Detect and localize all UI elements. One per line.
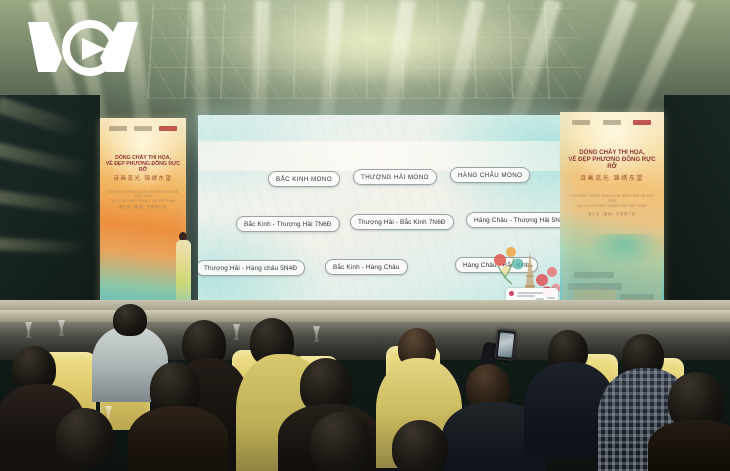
tour-pill-bac-kinh-hang-chau[interactable]: Bắc Kinh - Hàng Châu <box>325 259 408 275</box>
banner-right-title: DÒNG CHẢY THI HỌA, VẺ ĐẸP PHƯƠNG ĐÔNG RỰ… <box>563 150 661 170</box>
tour-package-list: BẮC KINH MONO THƯỢNG HẢI MONO HÀNG CHÂU … <box>198 115 560 310</box>
tour-pill-thuong-hai-bac-kinh-7n6d[interactable]: Thượng Hải - Bắc Kinh 7N6Đ <box>350 214 454 230</box>
banner-left-subtitle-line2: DU LỊCH CHIẾT GIANG TẠI VIỆT NAM <box>107 199 179 203</box>
tour-pill-thuong-hai-mono[interactable]: THƯỢNG HẢI MONO <box>353 169 437 185</box>
wine-glass <box>232 324 241 340</box>
banner-right-sponsor-logos <box>566 119 658 126</box>
banner-right-chinese-subtitle: 浙江省（越南）文旅推介会 <box>570 211 653 216</box>
banner-right-subtitle-line1: CHƯƠNG TRÌNH GIAO LƯU VĂN HÓA VÀ XÚC TIẾ… <box>568 194 655 204</box>
wine-glass <box>57 320 66 336</box>
event-photo: DÒNG CHẢY THI HỌA, VẺ ĐẸP PHƯƠNG ĐÔNG RỰ… <box>0 0 730 471</box>
banner-left-chinese-subtitle: 浙江省（越南）文旅推介会 <box>109 204 178 209</box>
tour-pill-hang-chau-mono[interactable]: HÀNG CHÂU MONO <box>450 167 530 183</box>
banner-right-subtitle-line2: DU LỊCH CHIẾT GIANG TẠI VIỆT NAM <box>568 204 655 209</box>
attendee-torso <box>128 406 228 471</box>
banner-left-title-line2: VẺ ĐẸP PHƯƠNG ĐÔNG RỰC RỠ <box>103 162 184 174</box>
banner-right-subtitle: CHƯƠNG TRÌNH GIAO LƯU VĂN HÓA VÀ XÚC TIẾ… <box>568 194 655 209</box>
attendee-head <box>310 412 372 471</box>
banner-left-subtitle-line1: CHƯƠNG TRÌNH GIAO LƯU VĂN HÓA VÀ XÚC TIẾ… <box>107 190 179 199</box>
lighting-truss <box>147 3 582 98</box>
tour-pill-hang-chau-thuong-hai-5n4d[interactable]: Hàng Châu - Thượng Hải 5N4Đ <box>466 212 560 228</box>
wine-glass <box>24 322 33 338</box>
banner-left-chinese-title: 诗画流光 锦绣东望 <box>103 174 182 182</box>
attendee-torso <box>648 420 730 471</box>
audience <box>0 296 730 471</box>
tour-pill-bac-kinh-mono[interactable]: BẮC KINH MONO <box>268 171 340 187</box>
led-presentation-screen: BẮC KINH MONO THƯỢNG HẢI MONO HÀNG CHÂU … <box>198 115 560 310</box>
attendee-head <box>56 408 114 468</box>
tour-pill-thuong-hai-hang-chau-5n4d[interactable]: Thượng Hải - Hàng châu 5N4Đ <box>198 260 305 276</box>
wine-glass <box>312 326 321 342</box>
banner-left-title: DÒNG CHẢY THI HỌA, VẺ ĐẸP PHƯƠNG ĐÔNG RỰ… <box>103 156 184 173</box>
tour-pill-bac-kinh-thuong-hai-7n6d[interactable]: Bắc Kinh - Thượng Hải 7N6Đ <box>236 216 340 232</box>
smartphone <box>494 329 516 361</box>
attendee-head <box>392 420 448 471</box>
banner-right-title-line2: VẺ ĐẸP PHƯƠNG ĐÔNG RỰC RỠ <box>563 157 661 171</box>
attendee-head <box>113 304 147 336</box>
tour-pill-hang-chau-bac-kinh[interactable]: Hàng Châu - Bắc Kinh <box>455 257 538 273</box>
banner-right-chinese-title: 诗画流光 锦绣东望 <box>564 173 660 182</box>
banner-left-sponsor-logos <box>105 125 181 132</box>
banner-left-subtitle: CHƯƠNG TRÌNH GIAO LƯU VĂN HÓA VÀ XÚC TIẾ… <box>107 190 179 203</box>
